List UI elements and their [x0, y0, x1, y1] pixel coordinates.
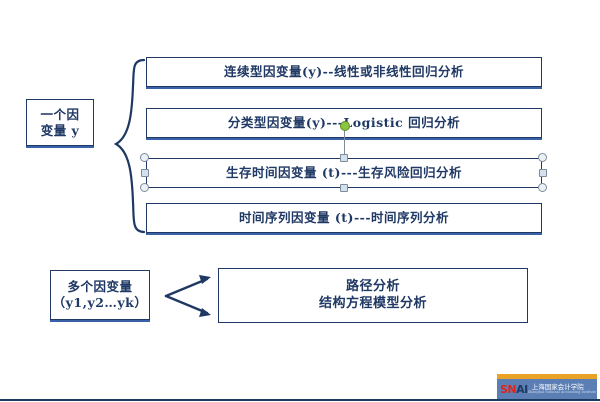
resize-handle-bottom-right[interactable] [538, 183, 547, 192]
resize-handle-middle-right[interactable] [539, 169, 547, 177]
analysis-box-survival-label: 生存时间因变量 (t)---生存风险回归分析 [226, 165, 462, 181]
resize-handle-bottom-center[interactable] [340, 184, 348, 192]
logo-name-en: Shanghai National Accounting Institute [528, 391, 596, 395]
analysis-box-continuous[interactable]: 连续型因变量(y)--线性或非线性回归分析 [146, 57, 542, 87]
multi-y-line-1: 多个因变量 [67, 279, 132, 295]
resize-handle-top-center[interactable] [340, 154, 348, 162]
logo-mark-sn: SN [497, 383, 516, 396]
rotate-handle[interactable] [340, 121, 350, 131]
resize-handle-middle-left[interactable] [141, 169, 149, 177]
footer-rule [0, 399, 600, 401]
path-analysis-line-2: 结构方程模型分析 [319, 296, 427, 312]
arrow-down-right-icon [166, 296, 207, 313]
logo-text-column: 上海国家会计学院 Shanghai National Accounting In… [528, 384, 596, 395]
logo-mark-ai: AI [516, 383, 528, 396]
path-analysis-box[interactable]: 路径分析 结构方程模型分析 [218, 268, 528, 323]
resize-handle-top-left[interactable] [140, 153, 149, 162]
single-y-line-2: 变量 y [41, 123, 80, 139]
path-analysis-line-1: 路径分析 [346, 279, 400, 295]
presentation-slide: 一个因 变量 y 连续型因变量(y)--线性或非线性回归分析 分类型因变量(y)… [0, 0, 600, 402]
single-dependent-variable-box[interactable]: 一个因 变量 y [26, 99, 94, 146]
resize-handle-bottom-left[interactable] [140, 183, 149, 192]
single-y-line-1: 一个因 [40, 107, 79, 123]
multi-dependent-variable-box[interactable]: 多个因变量 （y1,y2…yk） [50, 270, 150, 320]
snai-logo: SN AI 上海国家会计学院 Shanghai National Account… [497, 379, 597, 399]
multi-y-line-2: （y1,y2…yk） [53, 295, 148, 311]
analysis-box-timeseries[interactable]: 时间序列因变量 (t)---时间序列分析 [146, 203, 542, 233]
curly-brace-icon [110, 56, 148, 236]
analysis-box-timeseries-label: 时间序列因变量 (t)---时间序列分析 [239, 210, 449, 226]
arrow-up-right-icon [166, 279, 207, 296]
resize-handle-top-right[interactable] [538, 153, 547, 162]
diverging-arrows-group [163, 266, 223, 326]
analysis-box-continuous-label: 连续型因变量(y)--线性或非线性回归分析 [224, 64, 464, 80]
